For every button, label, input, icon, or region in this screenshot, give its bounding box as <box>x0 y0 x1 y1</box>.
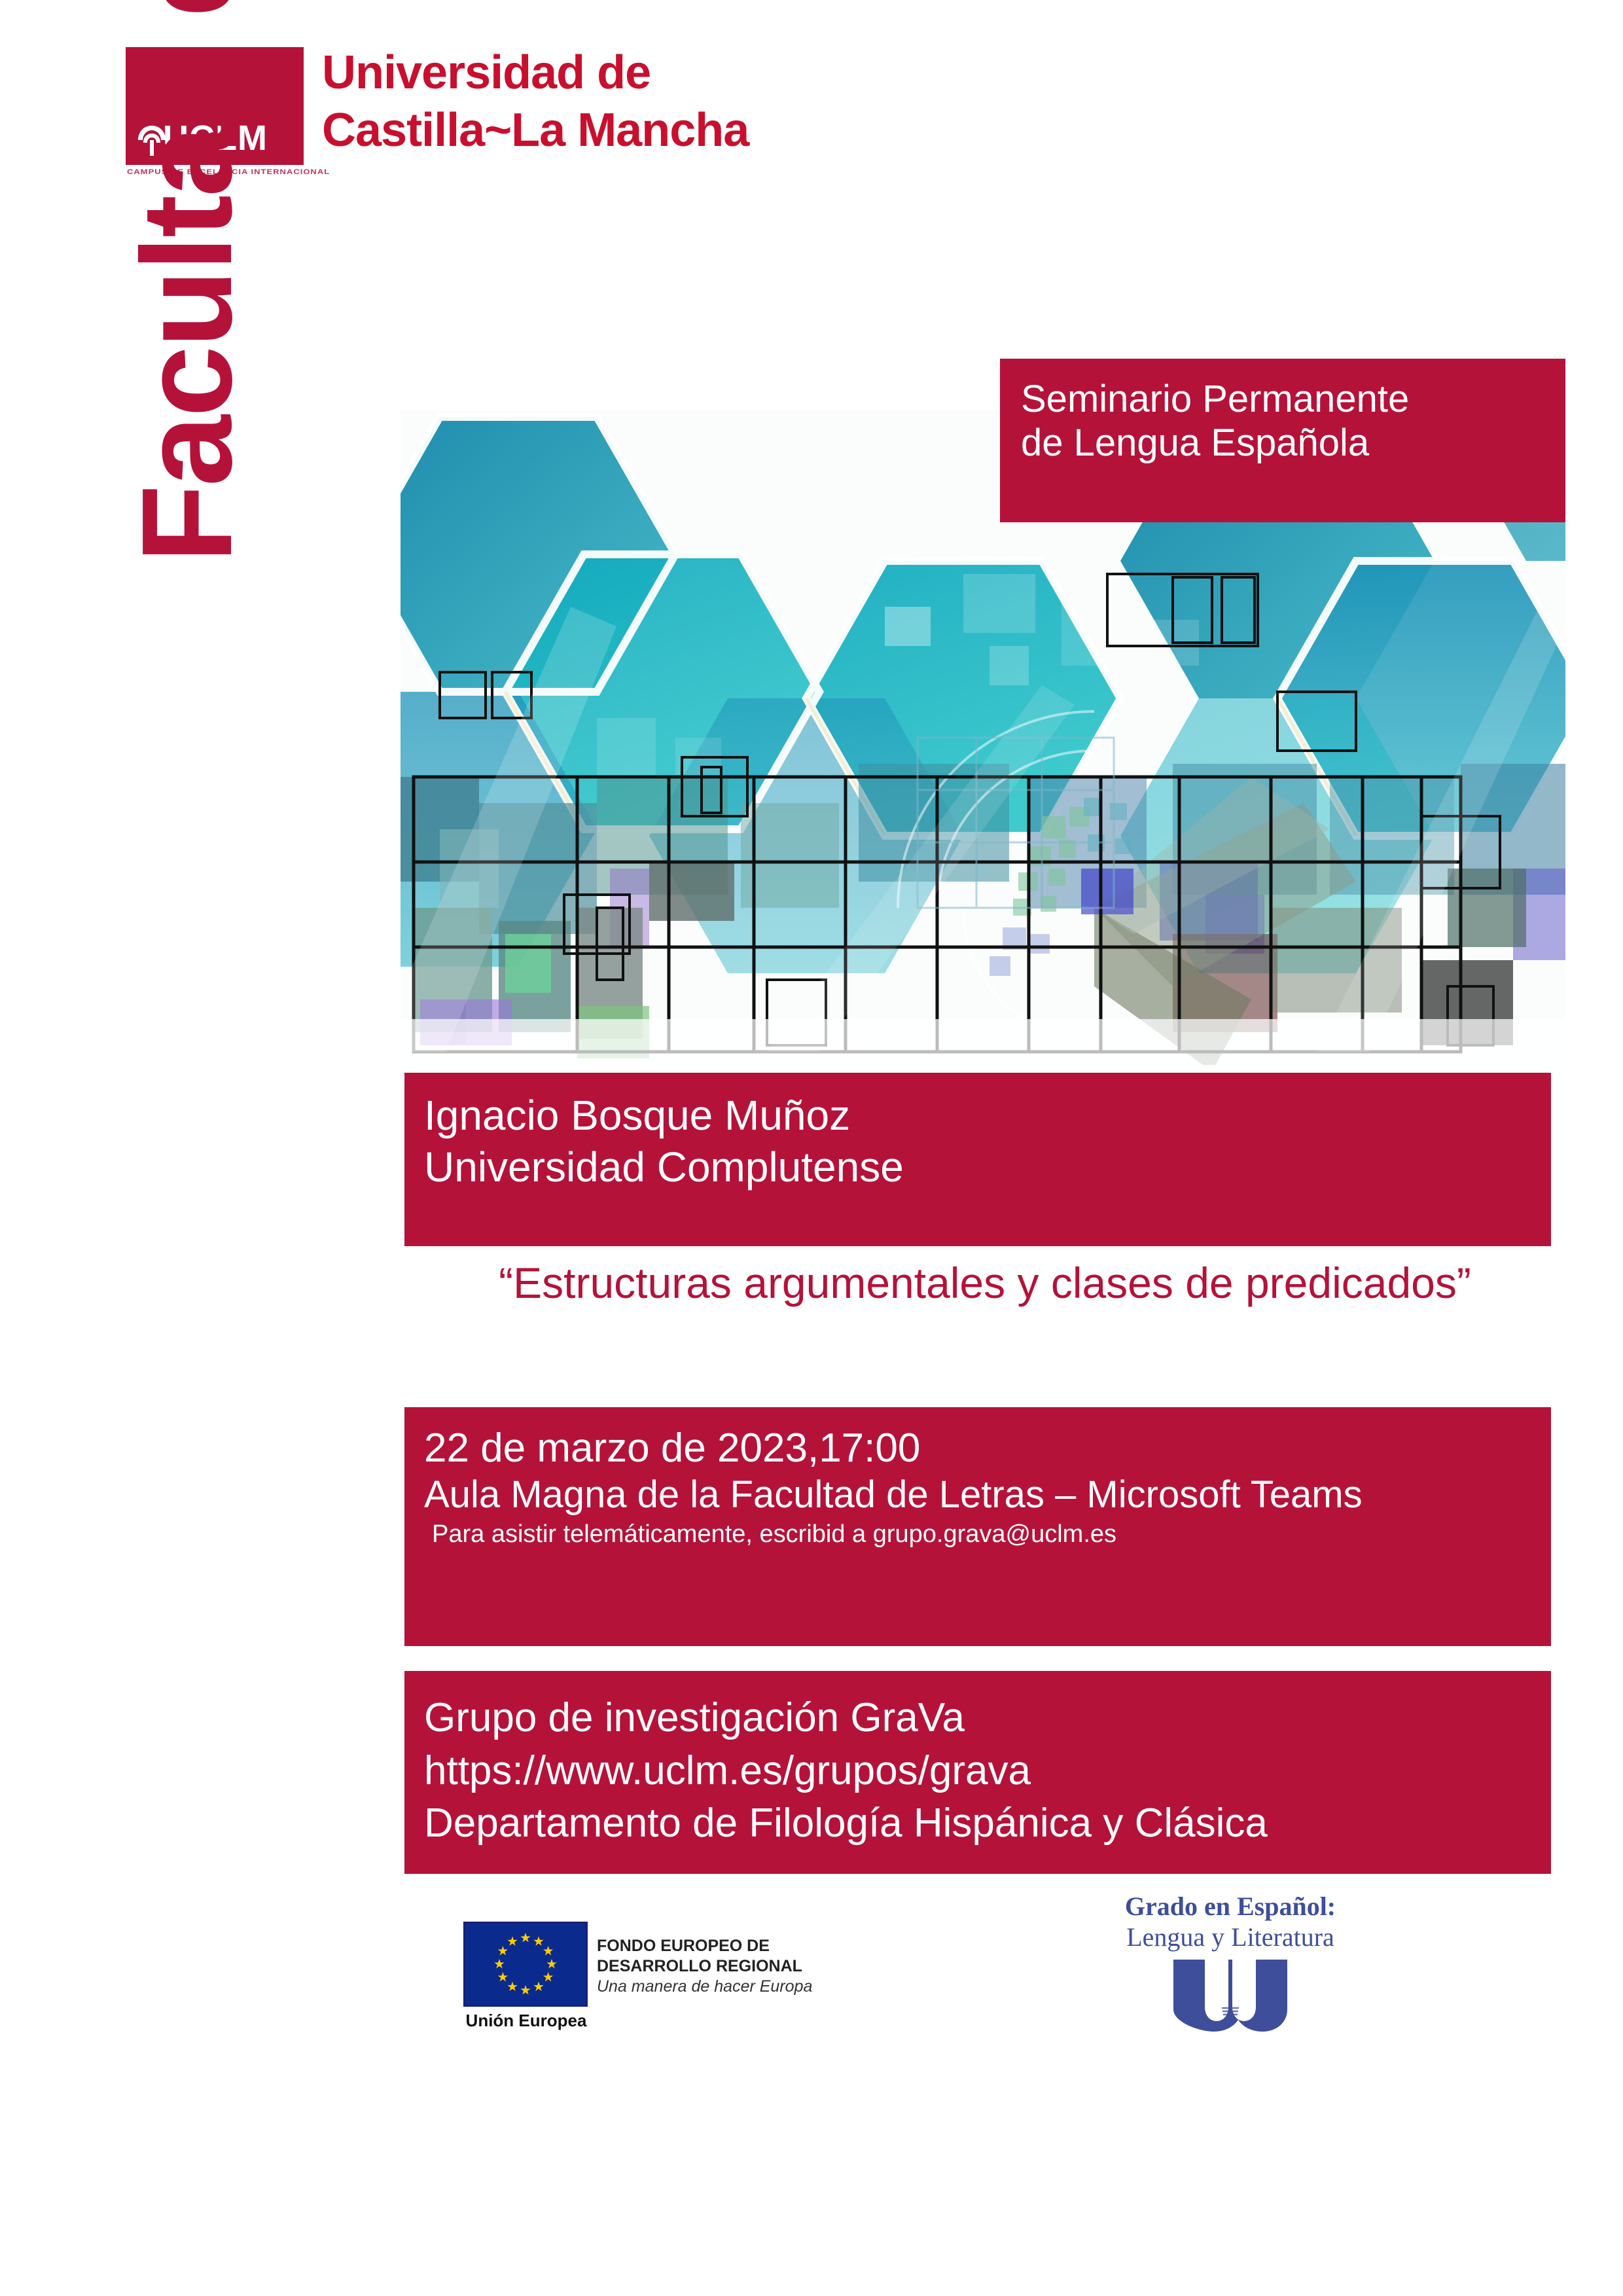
event-date: 22 de marzo de 2023,17:00 <box>424 1424 1551 1472</box>
eu-flag-caption: Unión Europea <box>463 2011 589 2031</box>
research-group-department: Departamento de Filología Hispánica y Cl… <box>424 1797 1551 1850</box>
seminar-line-2: de Lengua Española <box>1021 421 1565 465</box>
talk-title: “Estructuras argumentales y clases de pr… <box>419 1257 1551 1310</box>
speaker-affiliation: Universidad Complutense <box>424 1141 1551 1193</box>
feder-line-1: FONDO EUROPEO DE <box>597 1936 812 1956</box>
uned-w-mark-icon <box>1173 1960 1287 2032</box>
uclm-name-line2: Castilla~La Mancha <box>322 102 749 160</box>
speaker-banner: Ignacio Bosque Muñoz Universidad Complut… <box>404 1073 1551 1246</box>
research-group-banner: Grupo de investigación GraVa https://www… <box>404 1671 1551 1874</box>
feder-logo: Unión Europea FONDO EUROPEO DE DESARROLL… <box>458 1910 785 2041</box>
event-banner: 22 de marzo de 2023,17:00 Aula Magna de … <box>404 1407 1551 1646</box>
event-venue: Aula Magna de la Facultad de Letras – Mi… <box>424 1472 1551 1518</box>
seminar-banner: Seminario Permanente de Lengua Española <box>1000 359 1565 522</box>
seminar-line-1: Seminario Permanente <box>1021 377 1565 421</box>
degree-logo: Grado en Español: Lengua y Literatura <box>1073 1892 1387 2075</box>
research-group-name: Grupo de investigación GraVa <box>424 1692 1551 1745</box>
speaker-name: Ignacio Bosque Muñoz <box>424 1090 1551 1141</box>
faculty-vertical-title: Facultad de Letras <box>115 0 259 563</box>
uclm-name-line1: Universidad de <box>322 45 749 102</box>
eu-flag-icon <box>463 1922 588 2007</box>
event-attendance-note: Para asistir telemáticamente, escribid a… <box>424 1518 1551 1551</box>
degree-line-1: Grado en Español: <box>1073 1892 1387 1922</box>
degree-line-2: Lengua y Literatura <box>1073 1922 1387 1953</box>
feder-line-3: Una manera de hacer Europa <box>597 1976 812 1998</box>
feder-line-2: DESARROLLO REGIONAL <box>597 1956 812 1977</box>
uclm-name: Universidad de Castilla~La Mancha <box>322 45 749 160</box>
feder-text: FONDO EUROPEO DE DESARROLLO REGIONAL Una… <box>597 1936 812 1998</box>
research-group-url[interactable]: https://www.uclm.es/grupos/grava <box>424 1745 1551 1798</box>
